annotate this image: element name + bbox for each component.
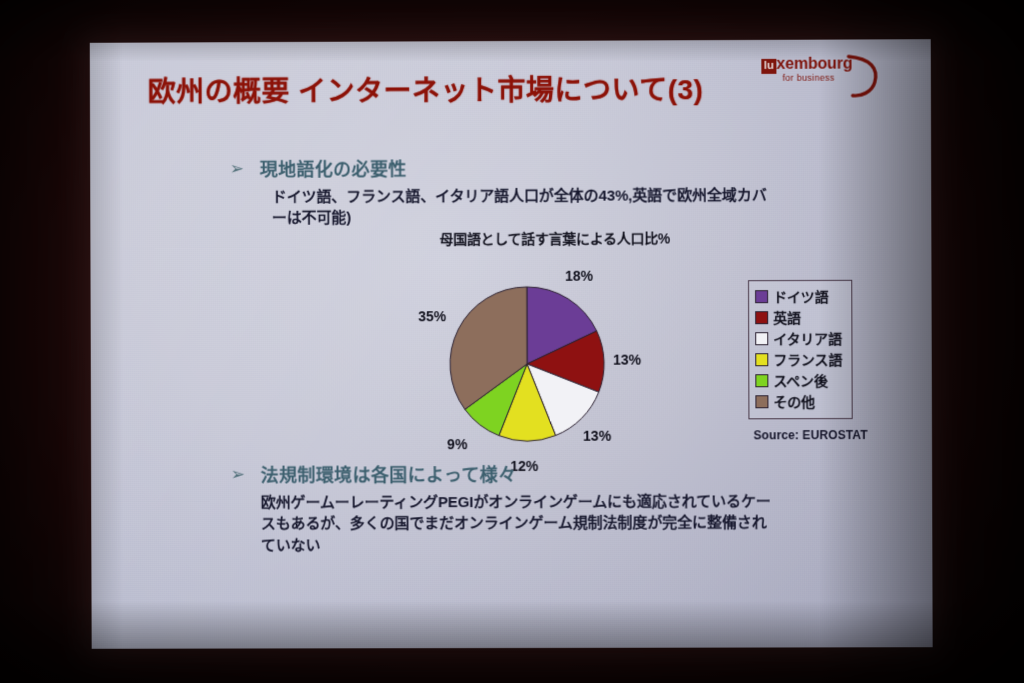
pie-plot-area: 18%13%13%12%9%35% <box>382 253 723 469</box>
legend-swatch-icon <box>755 395 768 408</box>
logo-tagline: for business <box>782 73 834 83</box>
legend-item: 英語 <box>755 307 842 328</box>
legend-label: その他 <box>773 392 815 412</box>
pie-slice-label: 13% <box>583 428 611 444</box>
bullet-arrow-icon: ➢ <box>231 465 245 485</box>
legend-item: その他 <box>755 391 842 412</box>
pie-chart: 母国語として話す言葉による人口比% 18%13%13%12%9%35% ドイツ語… <box>360 228 921 470</box>
legend-item: イタリア語 <box>755 328 842 349</box>
presentation-slide: 欧州の概要 インターネット市場について(3) lu xembourg for b… <box>90 39 933 649</box>
bullet-heading-regulation: 法規制環境は各国によって様々 <box>261 460 831 487</box>
slide-title: 欧州の概要 インターネット市場について(3) <box>148 68 704 110</box>
projected-slide-photo: 欧州の概要 インターネット市場について(3) lu xembourg for b… <box>0 0 1024 683</box>
pie-svg <box>382 253 723 469</box>
legend-label: フランス語 <box>773 349 842 369</box>
luxembourg-for-business-logo: lu xembourg for business <box>754 52 884 101</box>
pie-slice-label: 18% <box>565 268 593 284</box>
legend-label: スペン後 <box>773 371 827 391</box>
legend-label: ドイツ語 <box>773 286 828 306</box>
swoosh-icon <box>845 52 885 105</box>
legend-swatch-icon <box>755 311 768 324</box>
pie-slice-label: 13% <box>613 351 641 367</box>
bullet-block-regulation: ➢ 法規制環境は各国によって様々 欧州ゲームーレーティングPEGIがオンラインゲ… <box>231 460 831 556</box>
source-note: Source: EUROSTAT <box>753 428 867 442</box>
logo-wordmark: xembourg <box>776 56 852 74</box>
legend-item: フランス語 <box>755 349 842 370</box>
bullet-block-localization: ➢ 現地語化の必要性 ドイツ語、フランス語、イタリア語人口が全体の43%,英語で… <box>230 154 830 230</box>
pie-slice-label: 35% <box>418 308 446 324</box>
bullet-heading-localization: 現地語化の必要性 <box>260 154 830 182</box>
legend-label: 英語 <box>773 308 801 328</box>
legend-item: スペン後 <box>755 370 842 391</box>
legend-swatch-icon <box>755 353 768 366</box>
pie-slice-label: 9% <box>447 436 467 452</box>
bullet-body-regulation: 欧州ゲームーレーティングPEGIがオンラインゲームにも適応されているケースもある… <box>261 491 781 556</box>
legend-swatch-icon <box>755 374 768 387</box>
pie-slices <box>450 287 604 441</box>
chart-title: 母国語として話す言葉による人口比% <box>390 228 720 249</box>
bullet-arrow-icon: ➢ <box>230 159 244 179</box>
legend-swatch-icon <box>755 332 768 345</box>
legend-item: ドイツ語 <box>755 286 842 307</box>
legend-label: イタリア語 <box>773 328 842 348</box>
legend-swatch-icon <box>755 290 768 303</box>
bullet-body-localization: ドイツ語、フランス語、イタリア語人口が全体の43%,英語で欧州全域カバーは不可能… <box>272 185 772 229</box>
logo-lu-mark: lu <box>761 59 776 74</box>
chart-legend: ドイツ語英語イタリア語フランス語スペン後その他 <box>748 280 852 419</box>
